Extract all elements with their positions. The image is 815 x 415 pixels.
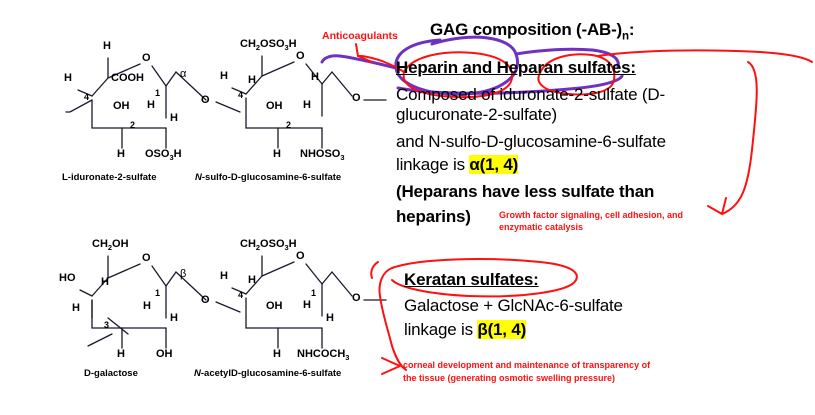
nhcoch3-main: NHCOCH xyxy=(297,348,345,360)
caption-d-galactose: D-galactose xyxy=(84,368,138,379)
caption-italic-n: N xyxy=(195,172,202,183)
keratan-line-1: Galactose + GlcNAc-6-sulfate xyxy=(404,296,623,316)
caption-rest-br: -acetylD-glucosamine-6-sulfate xyxy=(201,368,341,379)
oso-h: H xyxy=(289,38,297,50)
atom-ch2oh-bl: CH2OH xyxy=(92,238,129,252)
caption-l-iduronate: L-iduronate-2-sulfate xyxy=(62,172,156,183)
heparin-line-4: linkage is α(1, 4) xyxy=(396,155,518,175)
atom-oh-br: OH xyxy=(266,300,283,312)
atom-h-right-tl: H xyxy=(170,112,178,124)
atom-o-ring-br: O xyxy=(296,250,305,262)
atom-h-mid-bl: H xyxy=(143,300,151,312)
page-title-subscript: n xyxy=(622,30,629,42)
atom-h-c2top-tr: H xyxy=(303,99,311,111)
atom-h-right-bl: H xyxy=(170,312,178,324)
ring-num-4-br: 4 xyxy=(238,290,243,300)
alpha-linkage-label: α xyxy=(180,68,186,80)
atom-h-left-br: H xyxy=(220,270,228,282)
ring-num-1-tl: 1 xyxy=(155,88,160,98)
keratan-line-2: linkage is β(1, 4) xyxy=(404,320,526,340)
atom-oh-tr: OH xyxy=(266,100,283,112)
ch2oh-a: CH xyxy=(92,238,108,250)
heparin-line-1: Composed of iduronate-2-sulfate (D- xyxy=(396,85,665,105)
ch2-a: CH xyxy=(240,38,256,50)
atom-o-ring-bl: O xyxy=(142,252,151,264)
atom-h-bottom-br: H xyxy=(273,348,281,360)
oso3h-tail: H xyxy=(174,148,182,160)
nhoso3-sub: 3 xyxy=(340,153,344,162)
ring-num-3-bl: 3 xyxy=(104,320,109,330)
atom-ch2oso3h-br: CH2OSO3H xyxy=(240,238,297,252)
atom-h-in-br: H xyxy=(248,274,256,286)
atom-h-right-br: H xyxy=(326,312,334,324)
atom-oso3h-tl: OSO3H xyxy=(145,148,182,162)
bridge-o-bottom: O xyxy=(201,294,210,306)
annotation-anticoagulants: Anticoagulants xyxy=(322,30,398,42)
red-curve-growth-factor xyxy=(708,62,757,214)
annotation-corneal-line1: corneal development and maintenance of t… xyxy=(403,360,650,372)
atom-oh-tl: OH xyxy=(113,100,130,112)
heparin-line-2: glucuronate-2-sulfate) xyxy=(396,105,557,125)
caption-rest: -sulfo-D-glucosamine-6-sulfate xyxy=(202,172,341,183)
atom-o-right-tr: O xyxy=(352,92,361,104)
page-title-text: GAG composition (-AB-) xyxy=(430,20,622,39)
nhcoch3-sub: 3 xyxy=(345,353,349,362)
ring-num-2-tr: 2 xyxy=(286,120,291,130)
annotation-corneal-line2: the tissue (generating osmotic swelling … xyxy=(403,373,615,385)
linkage-label-alpha: linkage is xyxy=(396,155,469,174)
ring-num-1-br: 1 xyxy=(311,288,316,298)
caption-italic-n-br: N xyxy=(194,368,201,379)
caption-n-acetyl-glucosamine: N-acetylD-glucosamine-6-sulfate xyxy=(194,368,341,379)
oso-b-br: OSO xyxy=(260,238,284,250)
atom-h-bottom-tr: H xyxy=(273,148,281,160)
atom-nhcoch3-br: NHCOCH3 xyxy=(297,348,349,362)
page-title: GAG composition (-AB-)n: xyxy=(430,20,634,42)
nhoso3-main: NHOSO xyxy=(300,148,340,160)
atom-h-in-bl: H xyxy=(101,276,109,288)
heading-heparin-sulfates: Heparin and Heparan sulfates: xyxy=(396,58,636,78)
atom-h-left-tl: H xyxy=(64,72,72,84)
annotation-growth-factor-line1: Growth factor signaling, cell adhesion, … xyxy=(499,210,683,222)
beta-linkage-highlight: β(1, 4) xyxy=(477,320,526,339)
beta-linkage-label: β xyxy=(180,268,186,280)
atom-h-right-tr: H xyxy=(311,71,319,83)
caption-n-sulfo-glucosamine: N-sulfo-D-glucosamine-6-sulfate xyxy=(195,172,341,183)
linkage-label-beta: linkage is xyxy=(404,320,477,339)
heparin-line-5: (Heparans have less sulfate than xyxy=(396,182,654,202)
atom-h-top-tl: H xyxy=(103,40,111,52)
annotation-growth-factor-line2: enzymatic catalysis xyxy=(499,222,583,234)
ring-num-4-tr: 4 xyxy=(238,90,243,100)
page-title-colon: : xyxy=(629,20,634,39)
atom-oh-bottom-bl: OH xyxy=(156,348,173,360)
oso-b: OSO xyxy=(260,38,284,50)
slide-canvas: H COOH H O OH H H H OSO3H 4 1 2 α O L-id… xyxy=(0,0,815,415)
atom-nhoso3-tr: NHOSO3 xyxy=(300,148,345,162)
atom-h-bottom-bl: H xyxy=(117,348,125,360)
atom-h-in-tr: H xyxy=(248,74,256,86)
alpha-linkage-highlight: α(1, 4) xyxy=(469,155,518,174)
heading-keratan-sulfates: Keratan sulfates: xyxy=(404,270,539,290)
bridge-o-top: O xyxy=(201,94,210,106)
ring-num-2-tl: 2 xyxy=(130,120,135,130)
oso-h-br: H xyxy=(289,238,297,250)
atom-o-right-br: O xyxy=(352,292,361,304)
ring-num-4-tl: 4 xyxy=(84,92,89,102)
atom-h-bottom-tl: H xyxy=(117,148,125,160)
atom-h-c2top-tl: H xyxy=(147,99,155,111)
atom-cooh-tl: COOH xyxy=(111,72,144,84)
heparin-line-6: heparins) xyxy=(396,207,471,227)
ring-num-1-bl: 1 xyxy=(155,288,160,298)
ch2oh-b: OH xyxy=(112,238,129,250)
ch2-a-br: CH xyxy=(240,238,256,250)
atom-o-ring-tl: O xyxy=(142,52,151,64)
oso3h-main: OSO xyxy=(145,148,169,160)
atom-ho-bl: HO xyxy=(59,272,76,284)
atom-h-c2top-br: H xyxy=(303,299,311,311)
atom-o-ring-tr: O xyxy=(296,50,305,62)
atom-ch2oso3h-tr: CH2OSO3H xyxy=(240,38,297,52)
atom-h-left-bl: H xyxy=(72,302,80,314)
atom-h-left-tr: H xyxy=(220,70,228,82)
heparin-line-3: and N-sulfo-D-glucosamine-6-sulfate xyxy=(396,132,666,152)
